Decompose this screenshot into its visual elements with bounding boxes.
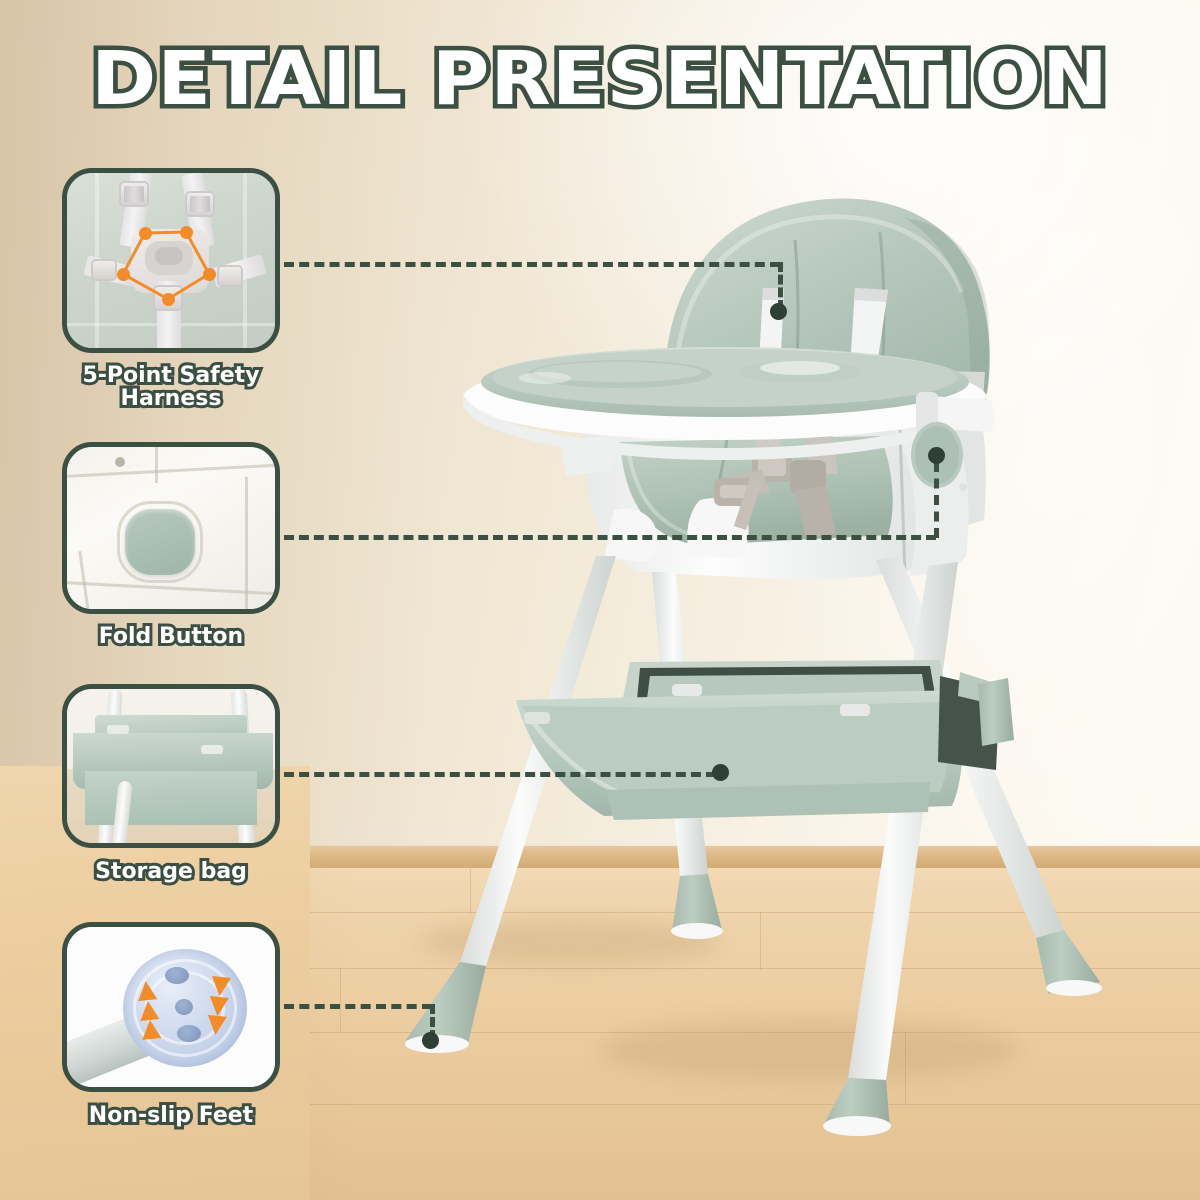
callout-fold-button[interactable]: Fold Button (62, 442, 290, 657)
harness-icon (67, 173, 275, 348)
callout-non-slip-feet[interactable]: ▲▲▲ ▼▼▼ Non-slip Feet (62, 922, 290, 1142)
callout-safety-harness[interactable]: 5-Point Safety Harness (62, 168, 290, 418)
callout-image-storage-bag (62, 684, 280, 848)
label-line-2: Harness (62, 387, 280, 410)
non-slip-feet-icon: ▲▲▲ ▼▼▼ (67, 927, 275, 1087)
harness-point-dot (203, 268, 216, 281)
harness-point-dot (117, 268, 130, 281)
callout-image-non-slip-feet: ▲▲▲ ▼▼▼ (62, 922, 280, 1092)
storage-bag-icon (67, 689, 275, 843)
leader-dot-safety-harness (770, 303, 787, 320)
infographic-canvas: DETAIL PRESENTATION (0, 0, 1200, 1200)
harness-point-dot (162, 293, 175, 306)
fold-button-icon (67, 447, 275, 609)
leader-dot-fold-button (928, 447, 945, 464)
leader-line-fold-button (284, 535, 936, 540)
callout-label-safety-harness: 5-Point Safety Harness (62, 364, 280, 410)
callout-image-safety-harness (62, 168, 280, 353)
callout-image-fold-button (62, 442, 280, 614)
harness-point-dot (139, 227, 152, 240)
leader-line-fold-button-v (934, 462, 939, 538)
callout-label-fold-button: Fold Button (62, 625, 280, 648)
non-slip-feet-on-chair (405, 874, 1102, 1136)
tray-arm (560, 436, 614, 476)
callout-label-storage-bag: Storage bag (62, 860, 280, 883)
leader-dot-storage-bag (712, 764, 729, 781)
harness-point-dot (180, 226, 193, 239)
label-line-1: 5-Point Safety (62, 364, 280, 387)
callout-label-non-slip-feet: Non-slip Feet (62, 1104, 280, 1127)
storage-basket (516, 660, 1014, 820)
five-point-overlay (67, 173, 280, 353)
leader-line-non-slip-feet (284, 1004, 432, 1009)
leader-line-safety-harness (284, 262, 780, 267)
chair-legs (460, 556, 1064, 1080)
callout-storage-bag[interactable]: Storage bag (62, 684, 290, 899)
leader-line-storage-bag (284, 772, 716, 777)
leader-dot-non-slip-feet (422, 1032, 439, 1049)
